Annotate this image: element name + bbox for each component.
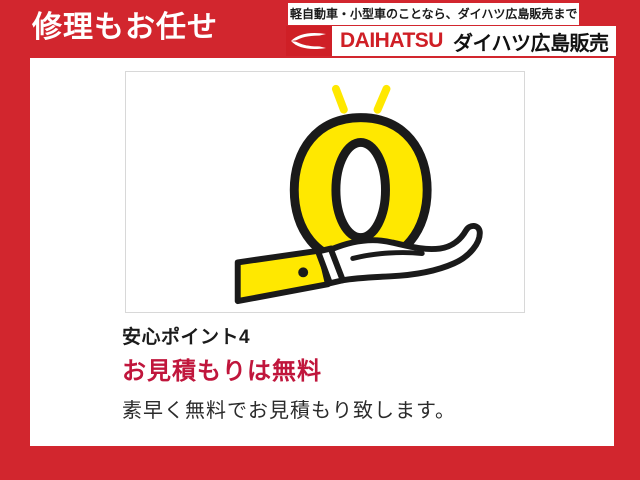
daihatsu-d-emblem-icon bbox=[286, 26, 332, 56]
caption-highlight: お見積もりは無料 bbox=[122, 353, 592, 391]
dealer-name: ダイハツ広島販売 bbox=[453, 27, 609, 56]
caption-heading: 安心ポイント4 bbox=[122, 323, 592, 353]
sparkle-icon bbox=[336, 89, 387, 110]
brand-logo-bar: DAIHATSU ダイハツ広島販売 bbox=[286, 26, 616, 56]
daihatsu-wordmark: DAIHATSU bbox=[340, 29, 443, 53]
header-banner: 修理もお任せ 軽自動車・小型車のことなら、ダイハツ広島販売まで DAIHATSU… bbox=[0, 0, 640, 58]
zero-yen-hand-illustration bbox=[126, 72, 524, 312]
content-panel: 安心ポイント4 お見積もりは無料 素早く無料でお見積もり致します。 bbox=[30, 58, 614, 446]
illustration-frame bbox=[125, 71, 525, 313]
page-title: 修理もお任せ bbox=[32, 8, 218, 48]
brand-lockup: 軽自動車・小型車のことなら、ダイハツ広島販売まで DAIHATSU ダイハツ広島… bbox=[286, 3, 620, 55]
slide-canvas: 修理もお任せ 軽自動車・小型車のことなら、ダイハツ広島販売まで DAIHATSU… bbox=[0, 0, 640, 480]
caption-block: 安心ポイント4 お見積もりは無料 素早く無料でお見積もり致します。 bbox=[122, 323, 592, 429]
caption-detail: 素早く無料でお見積もり致します。 bbox=[122, 391, 592, 429]
brand-tagline: 軽自動車・小型車のことなら、ダイハツ広島販売まで bbox=[288, 3, 579, 25]
